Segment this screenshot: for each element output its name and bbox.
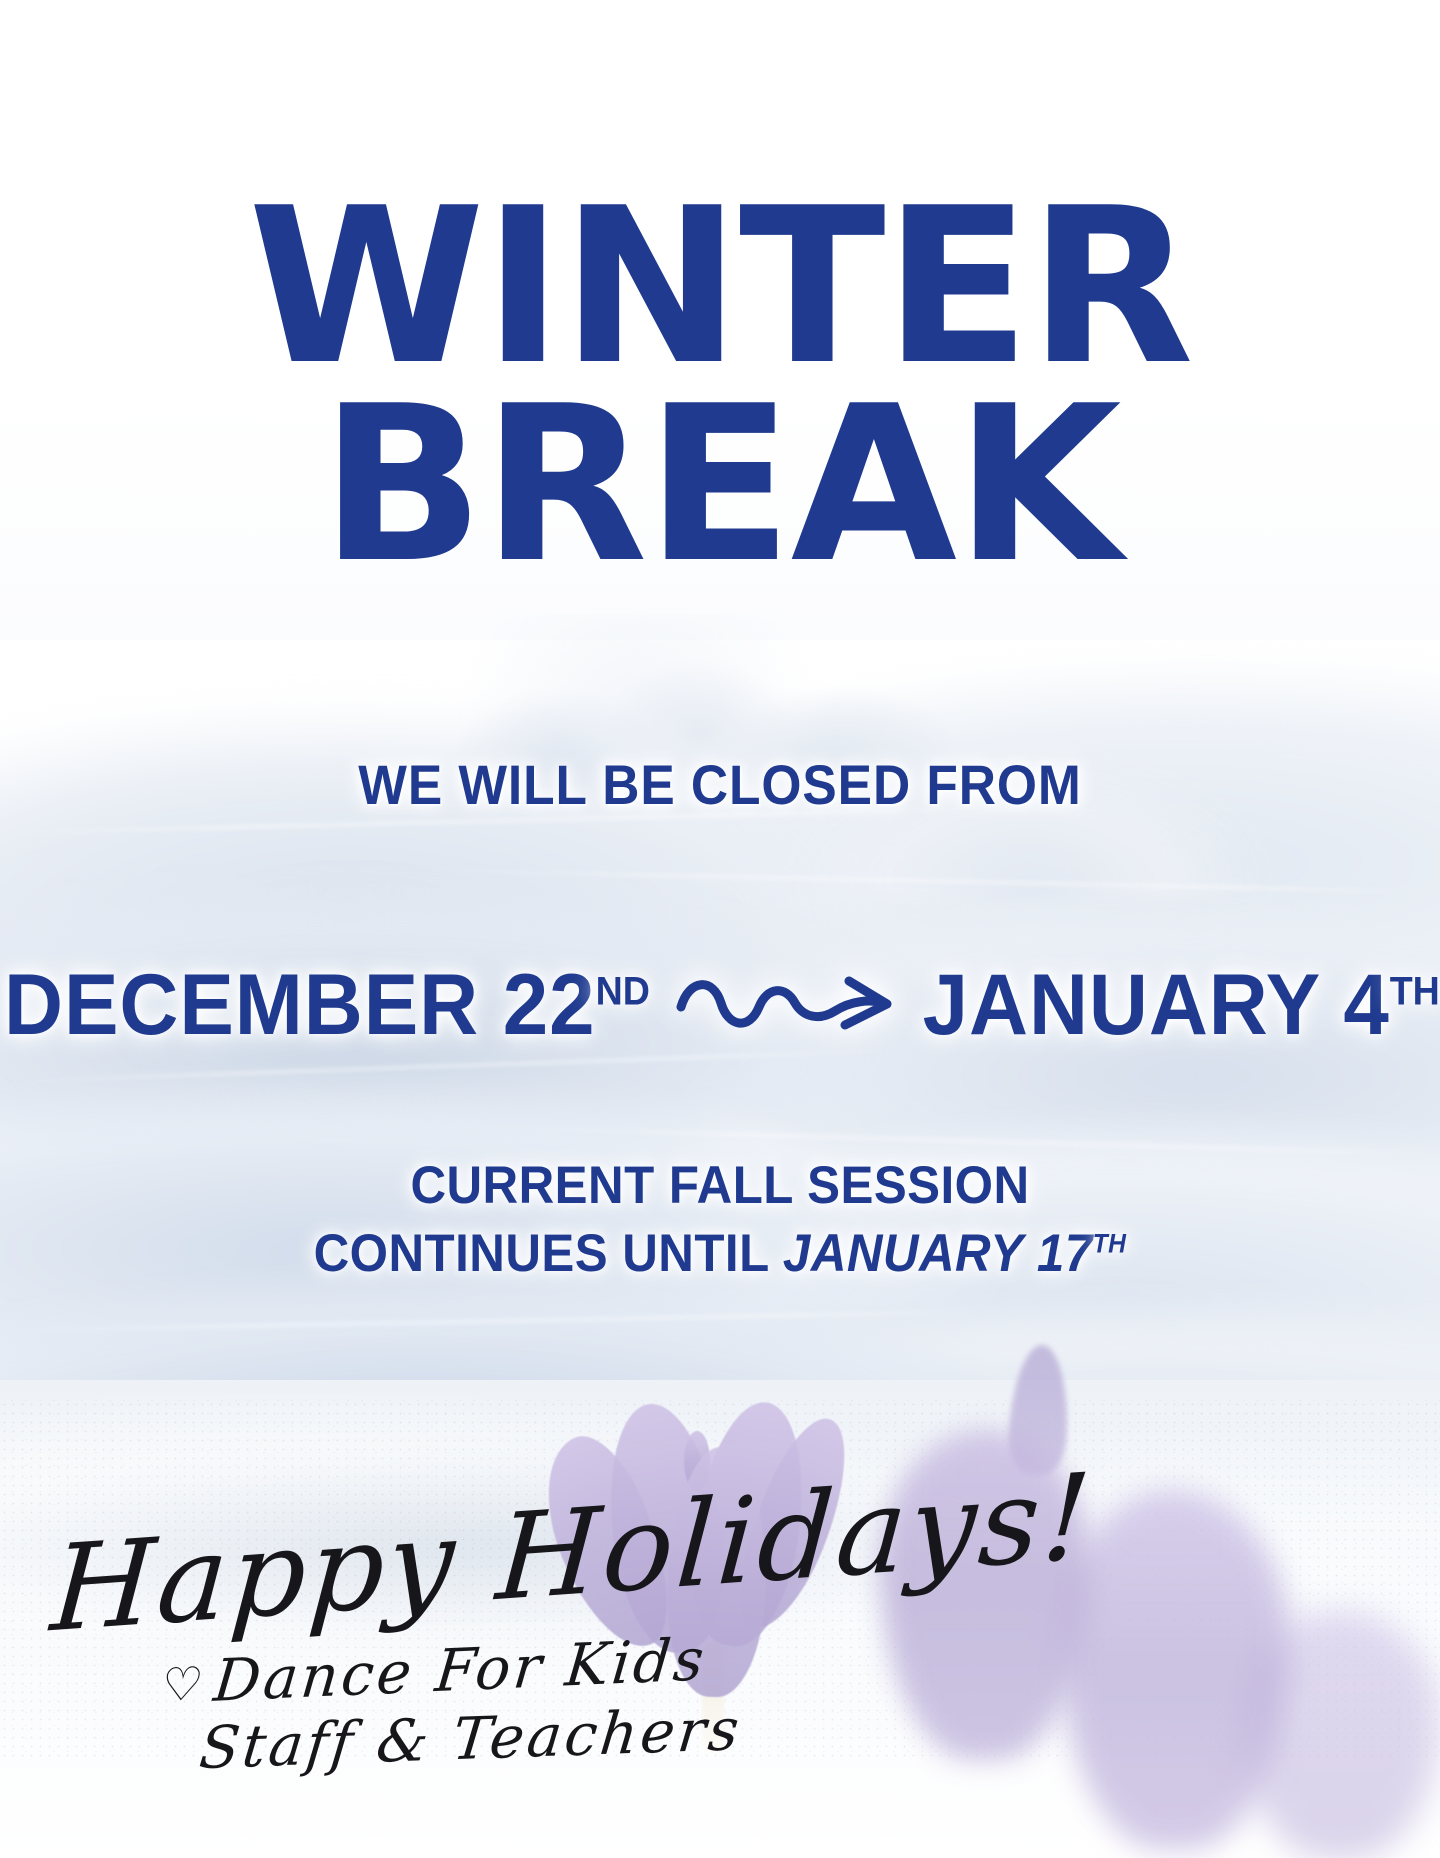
closure-start-date-ordinal: ND <box>595 969 649 1013</box>
session-end-date-ordinal: TH <box>1093 1228 1127 1258</box>
headline-line-1: WINTER <box>0 188 1440 386</box>
handwritten-signature: Happy Holidays! ♡Dance For Kids Staff & … <box>52 1530 1095 1779</box>
session-note-prefix: CONTINUES UNTIL <box>314 1224 783 1283</box>
closure-date-range: DECEMBER 22ND JANUARY 4TH <box>0 955 1440 1055</box>
squiggly-arrow-right-icon <box>673 955 903 1055</box>
heart-icon: ♡ <box>159 1656 208 1712</box>
closure-start-date-text: DECEMBER 22 <box>4 957 596 1053</box>
closure-end-date: JANUARY 4TH <box>922 956 1439 1055</box>
headline-line-2: BREAK <box>0 386 1440 584</box>
closure-start-date: DECEMBER 22ND <box>4 956 650 1055</box>
session-note: CURRENT FALL SESSION CONTINUES UNTIL JAN… <box>50 1152 1389 1288</box>
closure-subheading: WE WILL BE CLOSED FROM <box>58 752 1383 817</box>
closure-end-date-ordinal: TH <box>1389 969 1439 1013</box>
session-note-line-2: CONTINUES UNTIL JANUARY 17TH <box>50 1220 1389 1288</box>
session-note-line-1: CURRENT FALL SESSION <box>50 1152 1389 1220</box>
closure-end-date-text: JANUARY 4 <box>922 957 1389 1053</box>
page-title: WINTER BREAK <box>0 188 1440 584</box>
flyer-content: WINTER BREAK WE WILL BE CLOSED FROM DECE… <box>0 0 1440 1858</box>
winter-break-flyer: WINTER BREAK WE WILL BE CLOSED FROM DECE… <box>0 0 1440 1858</box>
session-end-date: JANUARY 17 <box>783 1224 1093 1283</box>
